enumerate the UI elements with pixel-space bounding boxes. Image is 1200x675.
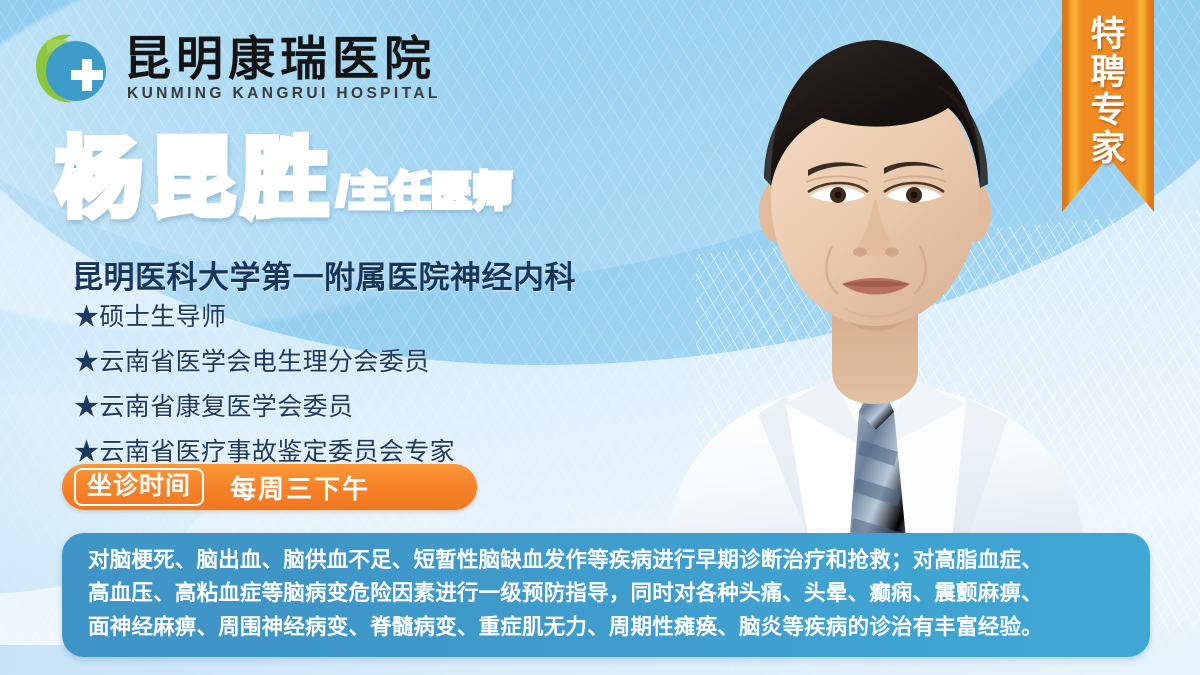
doctor-name: 杨昆胜: [56, 136, 335, 222]
leaf-droplet-cross-logo-icon: [26, 26, 110, 110]
credential-item: ★云南省医学会电生理分会委员: [74, 342, 455, 378]
ribbon-char: 家: [1090, 130, 1125, 167]
credential-list: ★硕士生导师 ★云南省医学会电生理分会委员 ★云南省康复医学会委员 ★云南省医疗…: [74, 297, 455, 468]
description-line: 对脑梗死、脑出血、脑供血不足、短暂性脑缺血发作等疾病进行早期诊断治疗和抢救；对高…: [88, 546, 1130, 574]
consultation-time-value: 每周三下午: [230, 469, 370, 506]
credential-item: ★云南省康复医学会委员: [74, 387, 455, 423]
description-line: 高血压、高粘血症等脑病变危险因素进行一级预防指导，同时对各种头痛、头晕、癫痫、震…: [88, 579, 1130, 607]
credential-item: ★云南省医疗事故鉴定委员会专家: [74, 432, 455, 468]
ribbon-char: 特: [1090, 16, 1125, 53]
doctor-title: /主任医师: [337, 172, 513, 212]
hospital-name-cn: 昆明康瑞医院: [124, 35, 441, 84]
doctor-affiliation: 昆明医科大学第一附属医院神经内科: [72, 252, 576, 297]
ribbon-char: 专: [1090, 92, 1125, 129]
specialty-description-panel: 对脑梗死、脑出血、脑供血不足、短暂性脑缺血发作等疾病进行早期诊断治疗和抢救；对高…: [62, 533, 1150, 657]
doctor-name-row: 杨昆胜 /主任医师: [56, 136, 513, 222]
credential-item: ★硕士生导师: [74, 297, 455, 333]
ribbon-char: 聘: [1090, 54, 1125, 91]
ribbon-label: 特 聘 专 家: [1062, 16, 1154, 167]
hospital-name-en: KUNMING KANGRUI HOSPITAL: [124, 86, 441, 102]
consultation-time-label: 坐诊时间: [74, 468, 204, 507]
doctor-profile-banner: 昆明康瑞医院 KUNMING KANGRUI HOSPITAL 杨昆胜 /主任医…: [0, 0, 1200, 675]
description-line: 面神经麻痹、周围神经病变、脊髓病变、重症肌无力、周期性瘫痪、脑炎等疾病的诊治有丰…: [88, 613, 1130, 641]
consultation-time-badge: 坐诊时间 每周三下午: [62, 464, 477, 510]
hospital-logo: 昆明康瑞医院 KUNMING KANGRUI HOSPITAL: [26, 26, 441, 110]
expert-ribbon: 特 聘 专 家: [1062, 0, 1154, 212]
doctor-portrait: [636, 0, 1106, 560]
